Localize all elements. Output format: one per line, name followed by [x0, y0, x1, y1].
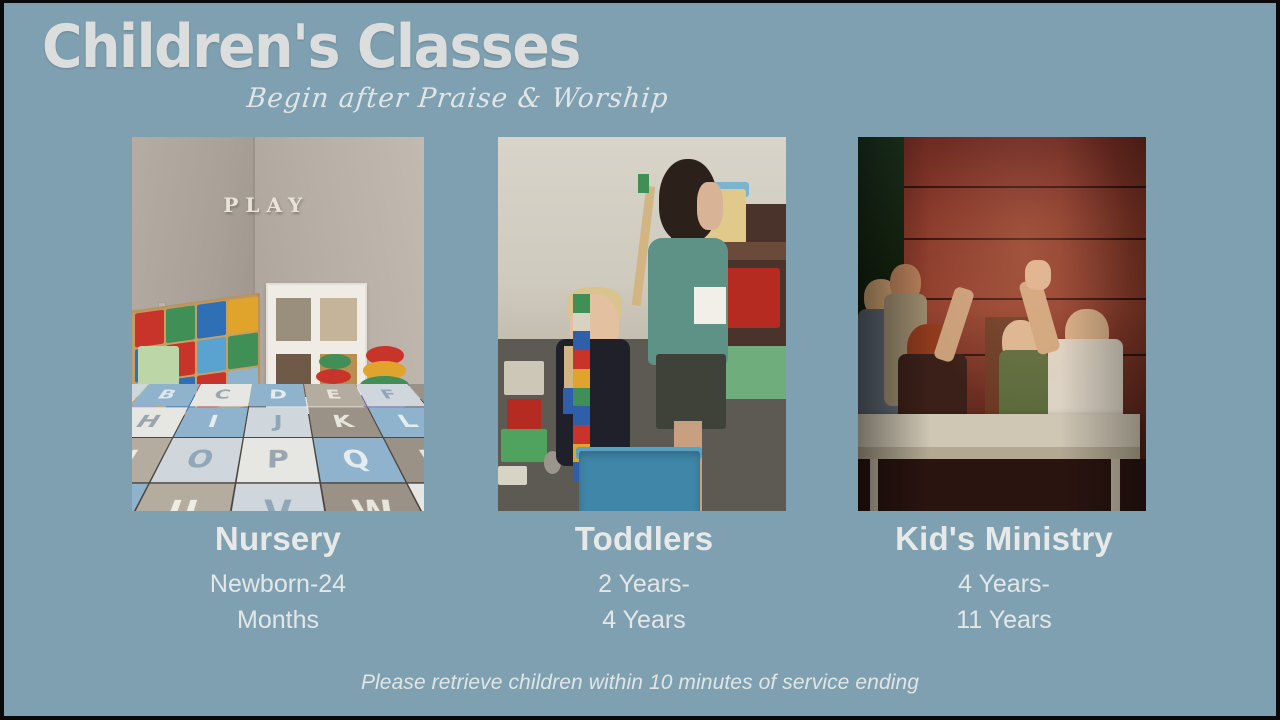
toy-bin [197, 337, 226, 375]
toy-bin [228, 297, 257, 335]
tower-block [573, 294, 590, 313]
class-cards-row: PLAY [4, 137, 1276, 667]
play-wall-letters: PLAY [208, 193, 325, 217]
age-line-1: 4 Years- [858, 566, 1150, 602]
tower-block [573, 313, 590, 332]
mat-tile: V [224, 483, 332, 511]
boy-name-tag [694, 287, 726, 324]
mat-tile: W [322, 483, 424, 511]
age-line-2: Months [132, 602, 424, 638]
slide-header: Children's Classes Begin after Praise & … [4, 3, 1276, 133]
card-age-range-nursery: Newborn-24 Months [132, 566, 424, 638]
class-card-toddlers: Toddlers 2 Years- 4 Years [498, 137, 790, 638]
blue-storage-bin [579, 451, 700, 511]
card-title-nursery: Nursery [132, 520, 424, 559]
mat-tile: J [244, 407, 313, 437]
boy-shorts [656, 354, 725, 429]
age-line-2: 11 Years [858, 602, 1150, 638]
mat-tile: C [189, 384, 251, 406]
presentation-slide: Children's Classes Begin after Praise & … [0, 0, 1280, 720]
toy-bin [228, 332, 257, 370]
cube-cell-books [276, 298, 311, 341]
tower-block [573, 350, 590, 369]
age-line-2: 4 Years [498, 602, 790, 638]
cube-cell-toys [320, 298, 357, 341]
tower-block [573, 369, 590, 388]
green-bin [723, 346, 786, 398]
tower-block [573, 425, 590, 444]
card-title-toddlers: Toddlers [498, 520, 790, 559]
class-card-kids-ministry: Kid's Ministry 4 Years- 11 Years [858, 137, 1150, 638]
tower-block [573, 331, 590, 350]
toddlers-stacking-toy-photo [498, 137, 786, 511]
mat-tile: U [132, 483, 234, 511]
stacking-ring [316, 369, 351, 384]
stacking-ring [319, 354, 351, 369]
toy-bin [135, 310, 164, 348]
card-age-range-kids-ministry: 4 Years- 11 Years [858, 566, 1150, 638]
floor-toy-car [498, 466, 527, 485]
age-line-1: Newborn-24 [132, 566, 424, 602]
mat-tile: D [249, 384, 307, 406]
floor-toy-tractor [501, 429, 547, 463]
boy-face [697, 182, 723, 231]
photo-vignette [858, 137, 1146, 511]
nursery-playroom-photo: PLAY [132, 137, 424, 511]
card-age-range-toddlers: 2 Years- 4 Years [498, 566, 790, 638]
floor-toy [504, 361, 544, 395]
tower-block [573, 406, 590, 425]
alphabet-foam-mat: A B C D E F G G H I J K L M M N O [132, 384, 424, 511]
age-line-1: 2 Years- [498, 566, 790, 602]
toy-bin [166, 305, 195, 343]
floor-toy-truck [507, 399, 542, 429]
stacking-rod-green-cap [638, 174, 650, 193]
card-title-kids-ministry: Kid's Ministry [858, 520, 1150, 559]
page-title: Children's Classes [42, 12, 580, 82]
toy-bin [197, 301, 226, 339]
footer-note: Please retrieve children within 10 minut… [4, 671, 1276, 695]
page-subtitle: Begin after Praise & Worship [245, 83, 670, 114]
kids-ministry-barn-photo [858, 137, 1146, 511]
class-card-nursery: PLAY [132, 137, 424, 638]
mat-tile: P [236, 438, 320, 482]
tower-block [573, 388, 590, 407]
